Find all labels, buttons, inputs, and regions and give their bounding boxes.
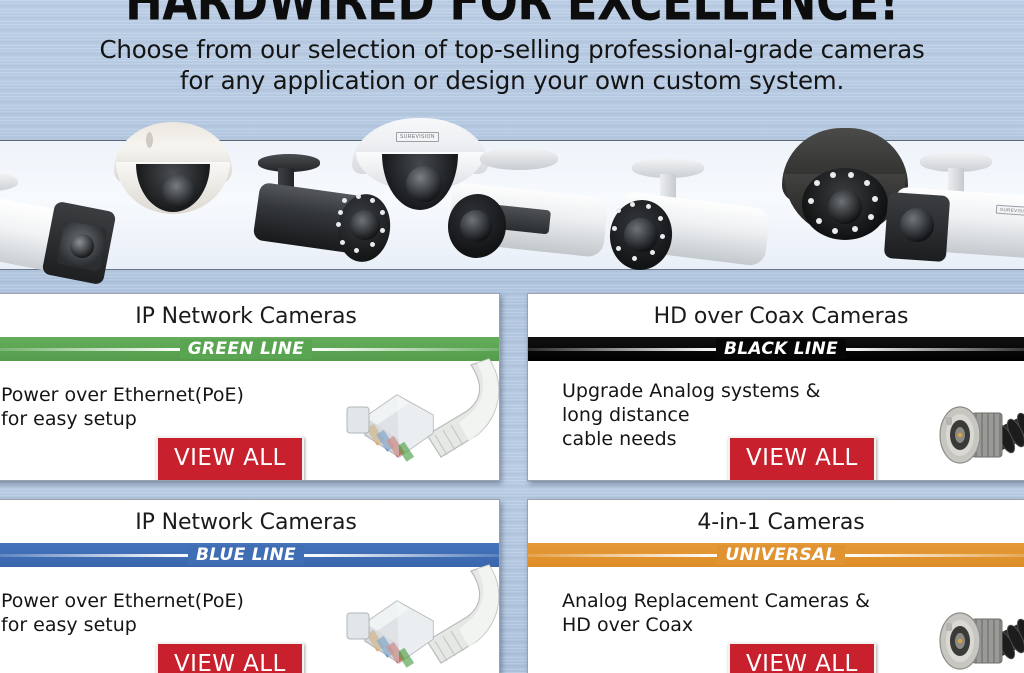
bnc-coax-connector: [886, 355, 1024, 481]
accent-stripe-blue-line: BLUE LINE: [0, 543, 499, 567]
page-headline: HARDWIRED FOR EXCELLENCE!: [0, 0, 1024, 33]
promo-page: HARDWIRED FOR EXCELLENCE! Choose from ou…: [0, 0, 1024, 673]
card-title-blue-line: IP Network Cameras: [0, 500, 499, 535]
page-subheadline: Choose from our selection of top-selling…: [0, 34, 1024, 96]
bullet-camera-white-small: [452, 146, 622, 292]
subheadline-line-2: for any application or design your own c…: [0, 65, 1024, 96]
view-all-button-black-line[interactable]: VIEW ALL: [728, 436, 876, 481]
card-title-universal: 4-in-1 Cameras: [528, 500, 1024, 535]
rj45-ethernet-connector: [291, 559, 500, 673]
card-universal[interactable]: 4-in-1 Cameras UNIVERSAL Analog Replacem…: [527, 499, 1024, 673]
camera-brand-tag: SUREVISION: [396, 132, 439, 142]
card-body-universal: Analog Replacement Cameras & HD over Coa…: [528, 567, 1024, 673]
line-label-green: GREEN LINE: [180, 339, 312, 359]
bullet-camera-white-right: SUREVISION: [878, 140, 1024, 290]
view-all-button-blue-line[interactable]: VIEW ALL: [156, 642, 304, 673]
view-all-button-universal[interactable]: VIEW ALL: [728, 642, 876, 673]
page-header: HARDWIRED FOR EXCELLENCE! Choose from ou…: [0, 0, 1024, 110]
card-black-line[interactable]: HD over Coax Cameras BLACK LINE Upgrade …: [527, 293, 1024, 481]
accent-stripe-green-line: GREEN LINE: [0, 337, 499, 361]
card-description-blue-line: Power over Ethernet(PoE) for easy setup: [1, 589, 244, 637]
rj45-ethernet-connector: [291, 353, 500, 481]
accent-stripe-universal: UNIVERSAL: [528, 543, 1024, 567]
card-body-green-line: Power over Ethernet(PoE) for easy setup …: [0, 361, 499, 479]
line-label-universal: UNIVERSAL: [717, 545, 844, 565]
card-body-black-line: Upgrade Analog systems & long distance c…: [528, 361, 1024, 479]
dome-camera-white-vandal: [114, 118, 242, 238]
subheadline-line-1: Choose from our selection of top-selling…: [99, 35, 924, 64]
card-blue-line[interactable]: IP Network Cameras BLUE LINE Power over …: [0, 499, 500, 673]
line-label-black: BLACK LINE: [716, 339, 846, 359]
view-all-button-green-line[interactable]: VIEW ALL: [156, 436, 304, 481]
card-title-green-line: IP Network Cameras: [0, 294, 499, 329]
card-green-line[interactable]: IP Network Cameras GREEN LINE Power over…: [0, 293, 500, 481]
card-description-universal: Analog Replacement Cameras & HD over Coa…: [562, 589, 870, 637]
card-body-blue-line: Power over Ethernet(PoE) for easy setup …: [0, 567, 499, 673]
line-label-blue: BLUE LINE: [188, 545, 304, 565]
card-title-black-line: HD over Coax Cameras: [528, 294, 1024, 329]
card-description-green-line: Power over Ethernet(PoE) for easy setup: [1, 383, 244, 431]
bnc-coax-connector: [886, 561, 1024, 673]
accent-stripe-black-line: BLACK LINE: [528, 337, 1024, 361]
camera-product-row: SUREVISION: [0, 110, 1024, 290]
bullet-camera-white-ir: [612, 150, 782, 300]
